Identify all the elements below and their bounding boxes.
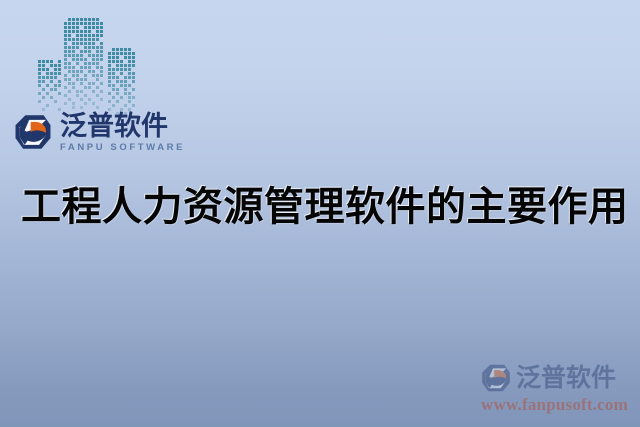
skyline-cell	[108, 84, 111, 87]
skyline-cell	[72, 46, 75, 49]
skyline-cell	[80, 78, 83, 81]
skyline-cell	[92, 34, 95, 37]
skyline-cell	[108, 52, 111, 55]
skyline-cell	[120, 52, 123, 55]
skyline-cell	[132, 104, 135, 107]
skyline-cell	[108, 64, 111, 67]
skyline-cell	[108, 76, 111, 79]
skyline-cell	[88, 82, 91, 85]
logo-name-en: FANPU SOFTWARE	[60, 143, 185, 153]
skyline-cell	[42, 108, 45, 111]
skyline-cell	[112, 96, 115, 99]
skyline-cell	[132, 80, 135, 83]
skyline-cell	[68, 62, 71, 65]
skyline-cell	[46, 60, 49, 63]
skyline-cell	[116, 60, 119, 63]
skyline-cell	[92, 54, 95, 57]
skyline-cell	[132, 88, 135, 91]
skyline-cell	[132, 52, 135, 55]
skyline-cell	[84, 78, 87, 81]
skyline-cell	[50, 88, 53, 91]
skyline-cell	[120, 64, 123, 67]
skyline-cell	[80, 34, 83, 37]
skyline-cell	[128, 56, 131, 59]
skyline-cell	[108, 80, 111, 83]
skyline-cell	[72, 74, 75, 77]
skyline-cell	[100, 58, 103, 61]
skyline-cell	[124, 56, 127, 59]
watermark-logo-mark-icon	[481, 363, 511, 393]
skyline-cell	[124, 80, 127, 83]
skyline-cell	[46, 68, 49, 71]
skyline-cell	[68, 82, 71, 85]
skyline-cell	[50, 64, 53, 67]
skyline-cell	[54, 84, 57, 87]
skyline-cell	[68, 38, 71, 41]
fanpu-logo-mark-icon	[14, 113, 52, 151]
skyline-cell	[92, 102, 95, 105]
skyline-cell	[58, 60, 61, 63]
skyline-cell	[100, 70, 103, 73]
skyline-cell	[96, 38, 99, 41]
skyline-cell	[64, 30, 67, 33]
skyline-cell	[112, 88, 115, 91]
skyline-cell	[96, 78, 99, 81]
skyline-cell	[76, 30, 79, 33]
skyline-cell	[100, 30, 103, 33]
skyline-cell	[50, 96, 53, 99]
skyline-cell	[68, 30, 71, 33]
skyline-cell	[92, 82, 95, 85]
skyline-cell	[64, 58, 67, 61]
skyline-cell	[96, 18, 99, 21]
skyline-cell	[120, 60, 123, 63]
skyline-cell	[120, 48, 123, 51]
skyline-cell	[88, 22, 91, 25]
skyline-cell	[116, 52, 119, 55]
skyline-cell	[92, 22, 95, 25]
skyline-cell	[100, 54, 103, 57]
skyline-cell	[54, 100, 57, 103]
skyline-cell	[100, 34, 103, 37]
skyline-cell	[46, 84, 49, 87]
skyline-cell	[72, 106, 75, 109]
skyline-cell	[80, 106, 83, 109]
skyline-cell	[112, 84, 115, 87]
skyline-cell	[64, 46, 67, 49]
skyline-cell	[124, 68, 127, 71]
skyline-cell	[76, 90, 79, 93]
skyline-cell	[68, 18, 71, 21]
skyline-cell	[58, 72, 61, 75]
skyline-cell	[124, 48, 127, 51]
skyline-cell	[124, 104, 127, 107]
skyline-cell	[68, 50, 71, 53]
skyline-cell	[88, 50, 91, 53]
skyline-cell	[42, 60, 45, 63]
skyline-cell	[88, 62, 91, 65]
skyline-cell	[64, 66, 67, 69]
skyline-cell	[84, 66, 87, 69]
skyline-cell	[88, 34, 91, 37]
skyline-cell	[116, 64, 119, 67]
skyline-cell	[64, 34, 67, 37]
skyline-cell	[100, 42, 103, 45]
skyline-cell	[92, 38, 95, 41]
skyline-cell	[76, 78, 79, 81]
fanpu-logo-text: 泛普软件 FANPU SOFTWARE	[60, 112, 185, 153]
skyline-cell	[96, 74, 99, 77]
skyline-cell	[84, 34, 87, 37]
skyline-cell	[124, 88, 127, 91]
skyline-cell	[38, 64, 41, 67]
skyline-cell	[76, 18, 79, 21]
skyline-cell	[84, 38, 87, 41]
skyline-cell	[46, 72, 49, 75]
skyline-cell	[128, 48, 131, 51]
skyline-cell	[76, 74, 79, 77]
skyline-cell	[68, 34, 71, 37]
watermark-name-cn: 泛普软件	[516, 366, 616, 391]
skyline-cell	[80, 50, 83, 53]
skyline-cell	[72, 26, 75, 29]
skyline-cell	[58, 84, 61, 87]
skyline-cell	[116, 68, 119, 71]
skyline-cell	[64, 102, 67, 105]
skyline-cell	[68, 46, 71, 49]
skyline-cell	[100, 26, 103, 29]
skyline-cell	[128, 96, 131, 99]
skyline-cell	[64, 38, 67, 41]
skyline-cell	[54, 76, 57, 79]
skyline-cell	[50, 76, 53, 79]
skyline-cell	[42, 80, 45, 83]
skyline-cell	[68, 26, 71, 29]
skyline-cell	[42, 96, 45, 99]
skyline-cell	[96, 86, 99, 89]
skyline-cell	[100, 22, 103, 25]
skyline-cell	[116, 88, 119, 91]
skyline-cell	[88, 66, 91, 69]
skyline-cell	[80, 98, 83, 101]
skyline-cell	[80, 30, 83, 33]
skyline-cell	[92, 70, 95, 73]
skyline-cell	[72, 38, 75, 41]
skyline-cell	[88, 38, 91, 41]
skyline-cell	[76, 46, 79, 49]
skyline-cell	[72, 102, 75, 105]
skyline-cell	[96, 22, 99, 25]
skyline-cell	[132, 64, 135, 67]
skyline-cell	[76, 54, 79, 57]
skyline-cell	[54, 88, 57, 91]
skyline-cell	[80, 70, 83, 73]
skyline-cell	[84, 26, 87, 29]
skyline-cell	[80, 90, 83, 93]
skyline-cell	[96, 94, 99, 97]
skyline-cell	[96, 66, 99, 69]
fanpu-logo: 泛普软件 FANPU SOFTWARE	[14, 112, 185, 153]
skyline-cell	[76, 70, 79, 73]
skyline-cell	[132, 60, 135, 63]
skyline-cell	[58, 92, 61, 95]
skyline-cell	[116, 48, 119, 51]
skyline-cell	[128, 64, 131, 67]
skyline-cell	[128, 76, 131, 79]
skyline-cell	[64, 50, 67, 53]
skyline-cell	[68, 54, 71, 57]
skyline-cell	[88, 70, 91, 73]
skyline-cell	[88, 86, 91, 89]
skyline-cell	[100, 82, 103, 85]
promo-banner: 泛普软件 FANPU SOFTWARE 工程人力资源管理软件的主要作用 泛普软件…	[0, 0, 640, 427]
skyline-cell	[128, 60, 131, 63]
skyline-cell	[72, 18, 75, 21]
skyline-cell	[88, 18, 91, 21]
skyline-cell	[92, 26, 95, 29]
skyline-cell	[120, 84, 123, 87]
skyline-cell	[80, 54, 83, 57]
skyline-cell	[64, 22, 67, 25]
skyline-cell	[76, 38, 79, 41]
skyline-cell	[64, 94, 67, 97]
skyline-cell	[68, 22, 71, 25]
skyline-cell	[108, 72, 111, 75]
skyline-cell	[112, 68, 115, 71]
skyline-cell	[76, 22, 79, 25]
skyline-cell	[132, 96, 135, 99]
skyline-cell	[108, 56, 111, 59]
skyline-cell	[124, 64, 127, 67]
skyline-cell	[54, 68, 57, 71]
skyline-cell	[72, 22, 75, 25]
skyline-cell	[76, 26, 79, 29]
skyline-cell	[96, 30, 99, 33]
skyline-cell	[132, 72, 135, 75]
skyline-cell	[92, 42, 95, 45]
skyline-cell	[54, 72, 57, 75]
skyline-cell	[50, 80, 53, 83]
skyline-cell	[42, 64, 45, 67]
skyline-cell	[84, 102, 87, 105]
pixel-city-skyline-icon	[38, 18, 142, 110]
skyline-cell	[100, 74, 103, 77]
skyline-cell	[64, 26, 67, 29]
skyline-cell	[116, 56, 119, 59]
watermark-logo: 泛普软件	[481, 363, 628, 393]
skyline-cell	[96, 46, 99, 49]
skyline-cell	[96, 62, 99, 65]
skyline-cell	[64, 42, 67, 45]
skyline-cell	[132, 56, 135, 59]
skyline-cell	[84, 42, 87, 45]
skyline-cell	[100, 66, 103, 69]
skyline-cell	[84, 62, 87, 65]
skyline-cell	[58, 68, 61, 71]
skyline-cell	[120, 68, 123, 71]
skyline-cell	[92, 74, 95, 77]
skyline-cell	[124, 52, 127, 55]
skyline-cell	[112, 48, 115, 51]
skyline-cell	[68, 78, 71, 81]
skyline-cell	[72, 54, 75, 57]
skyline-cell	[64, 78, 67, 81]
skyline-cell	[46, 104, 49, 107]
skyline-cell	[112, 104, 115, 107]
skyline-cell	[92, 62, 95, 65]
skyline-cell	[96, 26, 99, 29]
skyline-cell	[80, 42, 83, 45]
skyline-cell	[84, 50, 87, 53]
page-title: 工程人力资源管理软件的主要作用	[21, 186, 629, 229]
skyline-cell	[80, 58, 83, 61]
skyline-cell	[88, 26, 91, 29]
skyline-cell	[42, 88, 45, 91]
skyline-cell	[72, 50, 75, 53]
skyline-cell	[80, 66, 83, 69]
skyline-cell	[124, 92, 127, 95]
skyline-cell	[100, 90, 103, 93]
skyline-cell	[68, 70, 71, 73]
skyline-cell	[120, 72, 123, 75]
skyline-cell	[96, 50, 99, 53]
skyline-cell	[64, 54, 67, 57]
skyline-cell	[50, 72, 53, 75]
skyline-cell	[76, 94, 79, 97]
skyline-cell	[128, 52, 131, 55]
skyline-cell	[54, 64, 57, 67]
skyline-cell	[72, 66, 75, 69]
skyline-cell	[84, 30, 87, 33]
skyline-cell	[38, 92, 41, 95]
skyline-cell	[88, 98, 91, 101]
skyline-cell	[116, 100, 119, 103]
skyline-cell	[128, 84, 131, 87]
skyline-cell	[100, 50, 103, 53]
skyline-cell	[38, 76, 41, 79]
skyline-cell	[88, 46, 91, 49]
skyline-cell	[76, 34, 79, 37]
skyline-cell	[124, 84, 127, 87]
skyline-cell	[92, 46, 95, 49]
skyline-cell	[116, 76, 119, 79]
skyline-cell	[100, 98, 103, 101]
skyline-cell	[46, 92, 49, 95]
skyline-cell	[112, 52, 115, 55]
skyline-cell	[38, 80, 41, 83]
skyline-cell	[108, 60, 111, 63]
skyline-cell	[58, 80, 61, 83]
skyline-cell	[72, 42, 75, 45]
skyline-cell	[84, 22, 87, 25]
skyline-cell	[38, 84, 41, 87]
skyline-cell	[128, 68, 131, 71]
skyline-cell	[100, 46, 103, 49]
skyline-cell	[128, 72, 131, 75]
skyline-cell	[72, 30, 75, 33]
skyline-cell	[120, 80, 123, 83]
skyline-cell	[58, 64, 61, 67]
skyline-cell	[132, 76, 135, 79]
skyline-cell	[38, 100, 41, 103]
skyline-cell	[64, 74, 67, 77]
skyline-cell	[120, 96, 123, 99]
skyline-cell	[76, 58, 79, 61]
skyline-cell	[76, 62, 79, 65]
skyline-cell	[88, 30, 91, 33]
skyline-cell	[96, 34, 99, 37]
skyline-cell	[128, 92, 131, 95]
skyline-cell	[108, 68, 111, 71]
skyline-cell	[84, 58, 87, 61]
skyline-cell	[72, 82, 75, 85]
skyline-cell	[80, 18, 83, 21]
skyline-cell	[72, 58, 75, 61]
skyline-cell	[64, 86, 67, 89]
skyline-cell	[84, 46, 87, 49]
skyline-cell	[116, 80, 119, 83]
skyline-cell	[42, 68, 45, 71]
skyline-cell	[46, 76, 49, 79]
skyline-cell	[80, 82, 83, 85]
skyline-cell	[128, 100, 131, 103]
skyline-cell	[72, 86, 75, 89]
skyline-cell	[88, 54, 91, 57]
skyline-cell	[96, 54, 99, 57]
skyline-cell	[72, 70, 75, 73]
skyline-cell	[38, 72, 41, 75]
skyline-cell	[84, 74, 87, 77]
skyline-cell	[96, 58, 99, 61]
skyline-cell	[112, 76, 115, 79]
skyline-cell	[96, 106, 99, 109]
skyline-cell	[108, 92, 111, 95]
skyline-cell	[76, 42, 79, 45]
logo-name-cn: 泛普软件	[60, 112, 185, 140]
skyline-cell	[108, 100, 111, 103]
skyline-cell	[64, 62, 67, 65]
skyline-cell	[38, 60, 41, 63]
skyline-cell	[112, 72, 115, 75]
skyline-cell	[92, 90, 95, 93]
watermark-url: www.fanpusoft.com	[481, 395, 628, 415]
skyline-cell	[68, 98, 71, 101]
skyline-cell	[84, 18, 87, 21]
skyline-cell	[80, 22, 83, 25]
skyline-cell	[112, 56, 115, 59]
skyline-cell	[50, 60, 53, 63]
skyline-cell	[84, 86, 87, 89]
watermark: 泛普软件 www.fanpusoft.com	[481, 363, 628, 415]
skyline-cell	[124, 76, 127, 79]
skyline-cell	[42, 76, 45, 79]
skyline-cell	[38, 68, 41, 71]
skyline-cell	[68, 66, 71, 69]
skyline-cell	[92, 58, 95, 61]
skyline-cell	[68, 90, 71, 93]
skyline-cell	[116, 92, 119, 95]
skyline-cell	[88, 42, 91, 45]
skyline-cell	[80, 38, 83, 41]
skyline-cell	[92, 18, 95, 21]
skyline-cell	[84, 94, 87, 97]
skyline-cell	[112, 60, 115, 63]
